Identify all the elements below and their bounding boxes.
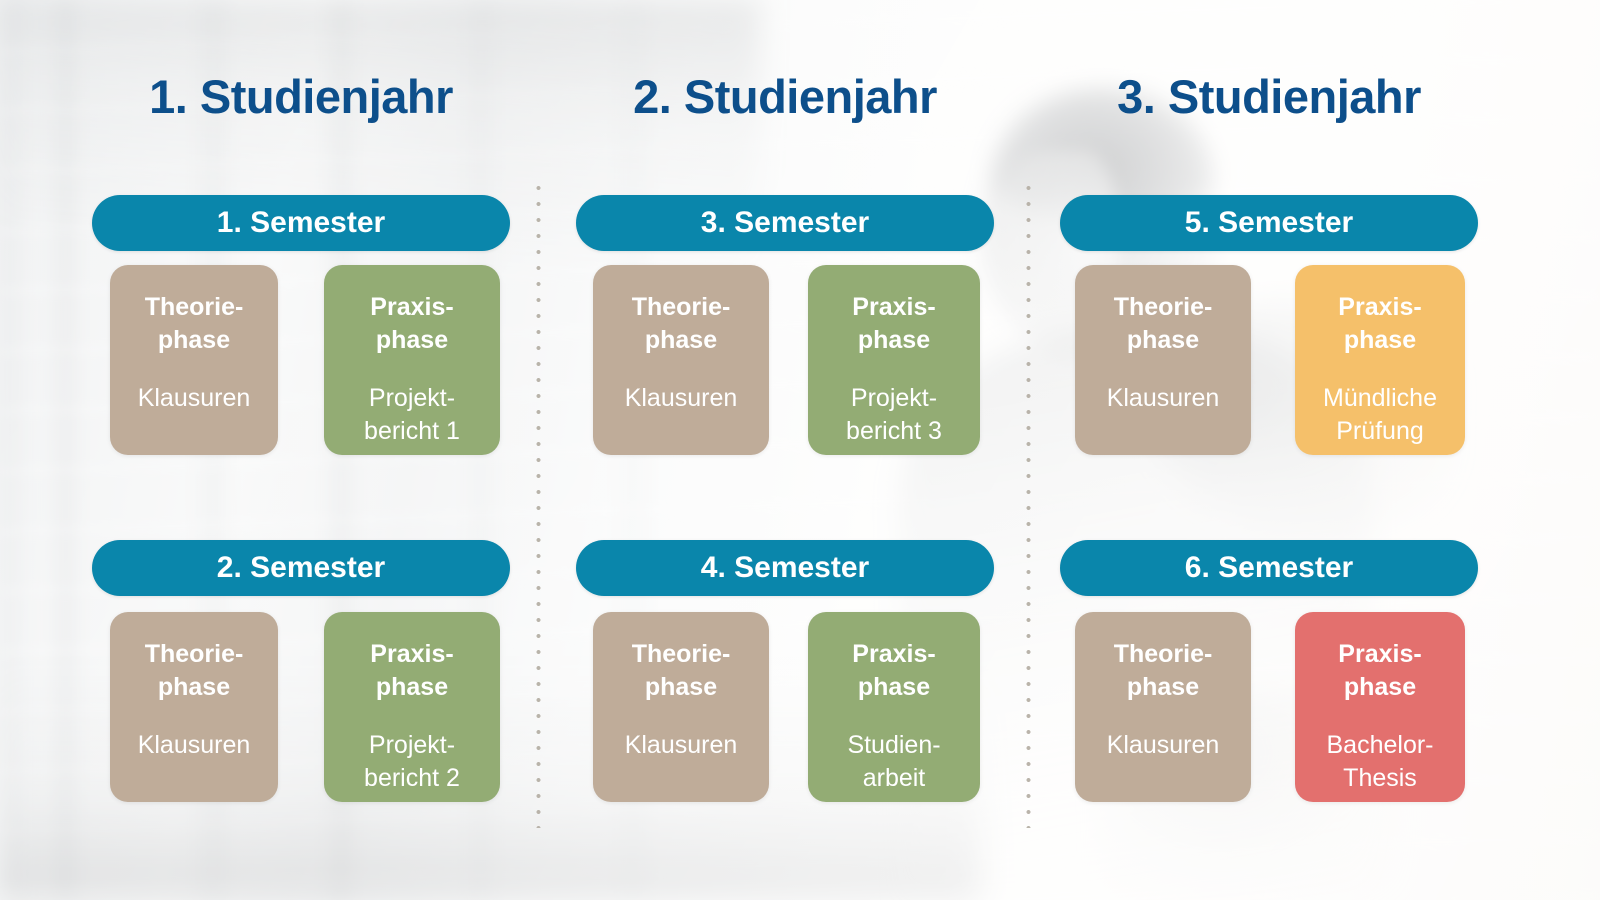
studienverlauf-infographic: 1. Studienjahr 2. Studienjahr 3. Studien… bbox=[0, 0, 1600, 900]
phase-box-theorie-s3[interactable]: Theorie-phase Klausuren bbox=[593, 265, 769, 455]
phase-subtitle: Klausuren bbox=[625, 729, 738, 762]
semester-pill-2[interactable]: 2. Semester bbox=[92, 540, 510, 596]
phase-subtitle: Projekt-bericht 3 bbox=[846, 382, 942, 447]
phase-subtitle: Klausuren bbox=[625, 382, 738, 415]
phase-title: Praxis-phase bbox=[852, 638, 935, 703]
phase-box-praxis-s6[interactable]: Praxis-phase Bachelor-Thesis bbox=[1295, 612, 1465, 802]
phase-box-theorie-s5[interactable]: Theorie-phase Klausuren bbox=[1075, 265, 1251, 455]
phase-box-theorie-s4[interactable]: Theorie-phase Klausuren bbox=[593, 612, 769, 802]
year-title-2: 2. Studienjahr bbox=[576, 62, 994, 132]
phase-title: Theorie-phase bbox=[1114, 291, 1213, 356]
semester-pill-1[interactable]: 1. Semester bbox=[92, 195, 510, 251]
phase-title: Theorie-phase bbox=[1114, 638, 1213, 703]
phase-box-praxis-s3[interactable]: Praxis-phase Projekt-bericht 3 bbox=[808, 265, 980, 455]
phase-title: Theorie-phase bbox=[145, 291, 244, 356]
phase-box-praxis-s1[interactable]: Praxis-phase Projekt-bericht 1 bbox=[324, 265, 500, 455]
phase-box-theorie-s6[interactable]: Theorie-phase Klausuren bbox=[1075, 612, 1251, 802]
phase-box-praxis-s2[interactable]: Praxis-phase Projekt-bericht 2 bbox=[324, 612, 500, 802]
column-divider-2 bbox=[1026, 180, 1031, 828]
phase-title: Praxis-phase bbox=[1338, 291, 1421, 356]
infographic-content: 1. Studienjahr 2. Studienjahr 3. Studien… bbox=[0, 0, 1600, 900]
phase-subtitle: Bachelor-Thesis bbox=[1327, 729, 1434, 794]
phase-subtitle: Klausuren bbox=[138, 382, 251, 415]
semester-pill-3[interactable]: 3. Semester bbox=[576, 195, 994, 251]
phase-title: Praxis-phase bbox=[370, 291, 453, 356]
phase-subtitle: Klausuren bbox=[1107, 382, 1220, 415]
phase-box-praxis-s5[interactable]: Praxis-phase MündlichePrüfung bbox=[1295, 265, 1465, 455]
phase-box-theorie-s1[interactable]: Theorie-phase Klausuren bbox=[110, 265, 278, 455]
phase-box-theorie-s2[interactable]: Theorie-phase Klausuren bbox=[110, 612, 278, 802]
column-divider-1 bbox=[536, 180, 541, 828]
phase-title: Theorie-phase bbox=[632, 638, 731, 703]
phase-subtitle: Studien-arbeit bbox=[847, 729, 940, 794]
phase-subtitle: Klausuren bbox=[138, 729, 251, 762]
phase-subtitle: MündlichePrüfung bbox=[1323, 382, 1437, 447]
phase-subtitle: Klausuren bbox=[1107, 729, 1220, 762]
year-title-1: 1. Studienjahr bbox=[92, 62, 510, 132]
phase-subtitle: Projekt-bericht 1 bbox=[364, 382, 460, 447]
phase-title: Praxis-phase bbox=[852, 291, 935, 356]
phase-subtitle: Projekt-bericht 2 bbox=[364, 729, 460, 794]
semester-pill-5[interactable]: 5. Semester bbox=[1060, 195, 1478, 251]
year-title-3: 3. Studienjahr bbox=[1060, 62, 1478, 132]
phase-title: Praxis-phase bbox=[1338, 638, 1421, 703]
semester-pill-6[interactable]: 6. Semester bbox=[1060, 540, 1478, 596]
phase-box-praxis-s4[interactable]: Praxis-phase Studien-arbeit bbox=[808, 612, 980, 802]
phase-title: Praxis-phase bbox=[370, 638, 453, 703]
semester-pill-4[interactable]: 4. Semester bbox=[576, 540, 994, 596]
phase-title: Theorie-phase bbox=[632, 291, 731, 356]
phase-title: Theorie-phase bbox=[145, 638, 244, 703]
